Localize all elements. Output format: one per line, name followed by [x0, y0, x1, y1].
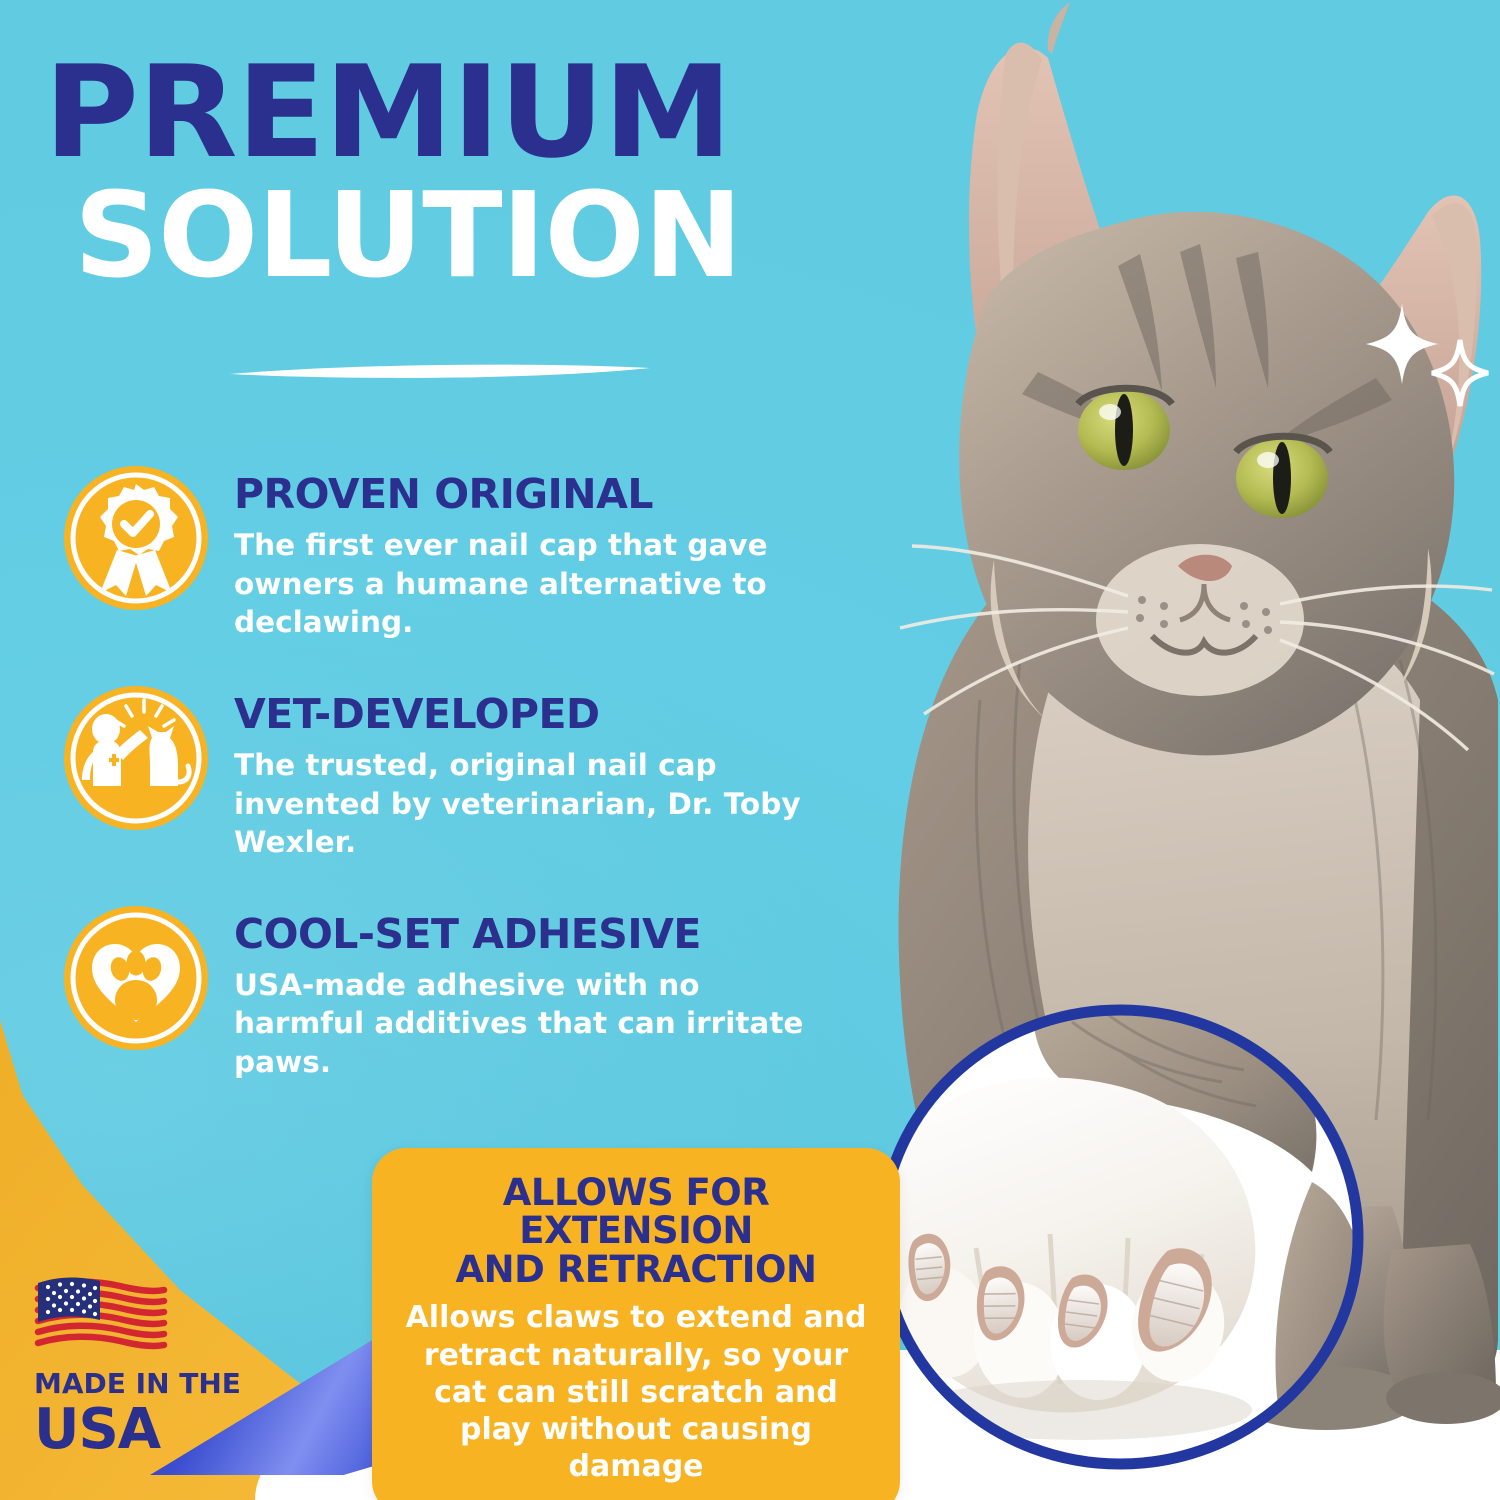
callout-title-line-1: ALLOWS FOR EXTENSION	[503, 1171, 769, 1252]
usa-badge-line-2: USA	[34, 1402, 304, 1458]
sparkle-icon	[1366, 304, 1438, 384]
sparkle-decoration-group	[1360, 300, 1500, 420]
sparkle-outline-icon	[1432, 340, 1488, 406]
cat-paw-with-nail-caps-photo	[872, 1002, 1368, 1472]
feature-list: PROVEN ORIGINAL The first ever nail cap …	[60, 462, 860, 1122]
feature-text: VET-DEVELOPED The trusted, original nail…	[234, 682, 834, 862]
feature-body: The first ever nail cap that gave owners…	[234, 526, 834, 642]
vet-high-five-cat-icon	[60, 682, 212, 834]
headline-block: PREMIUM SOLUTION	[44, 52, 864, 291]
callout-title-line-2: AND RETRACTION	[456, 1248, 817, 1291]
callout-title: ALLOWS FOR EXTENSION AND RETRACTION	[394, 1174, 878, 1289]
callout-extension-retraction: ALLOWS FOR EXTENSION AND RETRACTION Allo…	[372, 1148, 900, 1500]
feature-title: COOL-SET ADHESIVE	[234, 914, 834, 955]
feature-title: VET-DEVELOPED	[234, 694, 834, 735]
lens-divider-icon	[230, 362, 650, 380]
feature-body: The trusted, original nail cap invented …	[234, 746, 834, 862]
usa-flag-icon	[34, 1272, 168, 1358]
product-infographic: PREMIUM SOLUTION	[0, 0, 1500, 1500]
headline-line-2: SOLUTION	[74, 179, 864, 291]
callout-body: Allows claws to extend and retract natur…	[394, 1299, 878, 1485]
feature-item: PROVEN ORIGINAL The first ever nail cap …	[60, 462, 860, 642]
usa-badge-line-1: MADE IN THE	[34, 1370, 304, 1398]
feature-item: VET-DEVELOPED The trusted, original nail…	[60, 682, 860, 862]
feature-item: COOL-SET ADHESIVE USA-made adhesive with…	[60, 902, 860, 1082]
feature-title: PROVEN ORIGINAL	[234, 474, 834, 515]
feature-text: COOL-SET ADHESIVE USA-made adhesive with…	[234, 902, 834, 1082]
headline-line-1: PREMIUM	[44, 52, 880, 173]
made-in-usa-badge: MADE IN THE USA	[34, 1272, 304, 1458]
feature-text: PROVEN ORIGINAL The first ever nail cap …	[234, 462, 834, 642]
award-ribbon-check-icon	[60, 462, 212, 614]
feature-body: USA-made adhesive with no harmful additi…	[234, 966, 834, 1082]
heart-paw-icon	[60, 902, 212, 1054]
